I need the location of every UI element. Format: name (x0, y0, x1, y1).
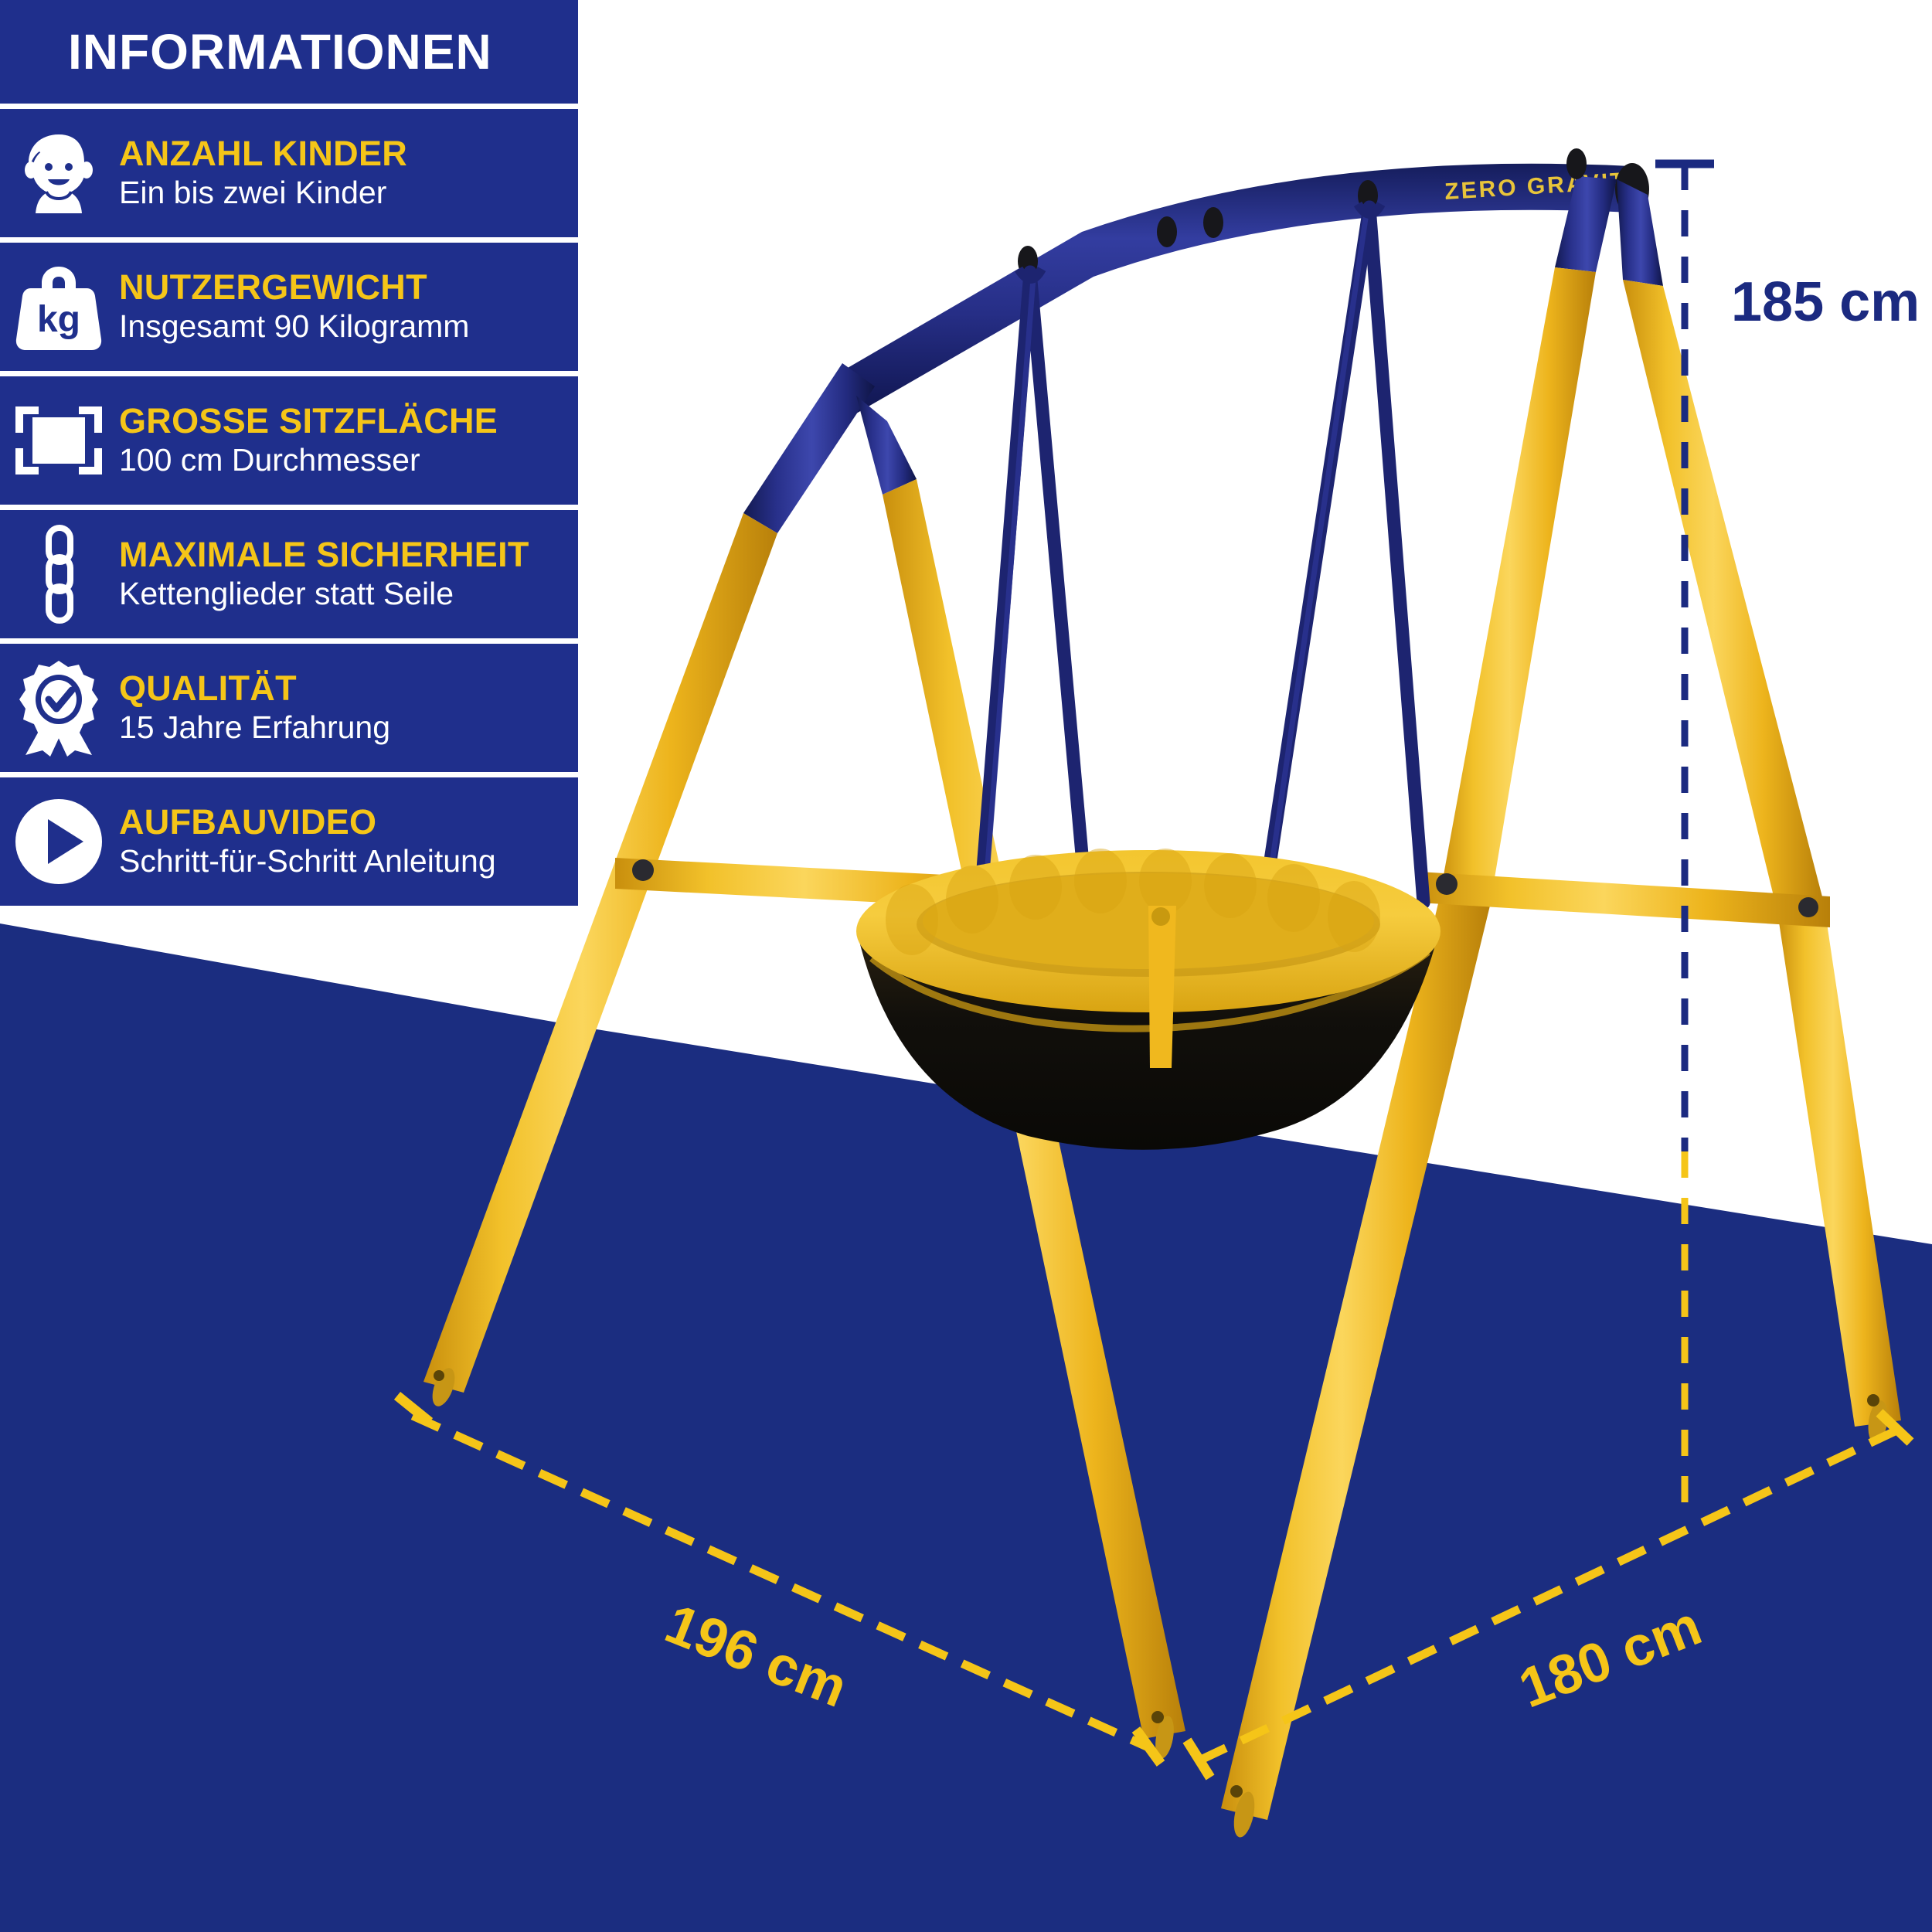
frame-area-icon (9, 391, 108, 490)
sidebar-item-subtitle: Kettenglieder statt Seile (119, 577, 529, 612)
sidebar-item-title: NUTZERGEWICHT (119, 269, 469, 306)
sidebar-header: INFORMATIONEN (0, 0, 578, 104)
sidebar-item-nutzergewicht[interactable]: kg NUTZERGEWICHT Insgesamt 90 Kilogramm (0, 243, 578, 371)
sidebar-item-title: GROSSE SITZFLÄCHE (119, 403, 498, 440)
chain-link-icon (9, 525, 108, 624)
sidebar-item-title: ANZAHL KINDER (119, 135, 407, 172)
play-button-icon (9, 792, 108, 891)
sidebar-item-title: QUALITÄT (119, 670, 390, 707)
sidebar-item-grosse-sitzflaeche[interactable]: GROSSE SITZFLÄCHE 100 cm Durchmesser (0, 376, 578, 505)
sidebar-item-title: AUFBAUVIDEO (119, 804, 496, 841)
sidebar-item-title: MAXIMALE SICHERHEIT (119, 536, 529, 573)
sidebar-item-subtitle: 15 Jahre Erfahrung (119, 710, 390, 746)
kg-weight-bag-icon: kg (9, 257, 108, 356)
svg-text:kg: kg (37, 299, 80, 340)
child-face-icon (9, 124, 108, 223)
height-dimension-label: 185 cm (1731, 270, 1920, 334)
sidebar-item-subtitle: Schritt-für-Schritt Anleitung (119, 844, 496, 879)
sidebar-item-maximale-sicherheit[interactable]: MAXIMALE SICHERHEIT Kettenglieder statt … (0, 510, 578, 638)
infographic-canvas: ZERO GRAVITY (0, 0, 1932, 1932)
sidebar-item-subtitle: Insgesamt 90 Kilogramm (119, 309, 469, 345)
sidebar-item-qualitaet[interactable]: QUALITÄT 15 Jahre Erfahrung (0, 644, 578, 772)
sidebar-item-anzahl-kinder[interactable]: ANZAHL KINDER Ein bis zwei Kinder (0, 109, 578, 237)
sidebar-header-title: INFORMATIONEN (68, 23, 492, 80)
sidebar-item-subtitle: Ein bis zwei Kinder (119, 175, 407, 211)
sidebar-item-aufbauvideo[interactable]: AUFBAUVIDEO Schritt-für-Schritt Anleitun… (0, 777, 578, 906)
sidebar-item-subtitle: 100 cm Durchmesser (119, 443, 498, 478)
information-sidebar: INFORMATIONEN ANZAHL KINDER Ei (0, 0, 578, 911)
quality-badge-icon (9, 658, 108, 757)
